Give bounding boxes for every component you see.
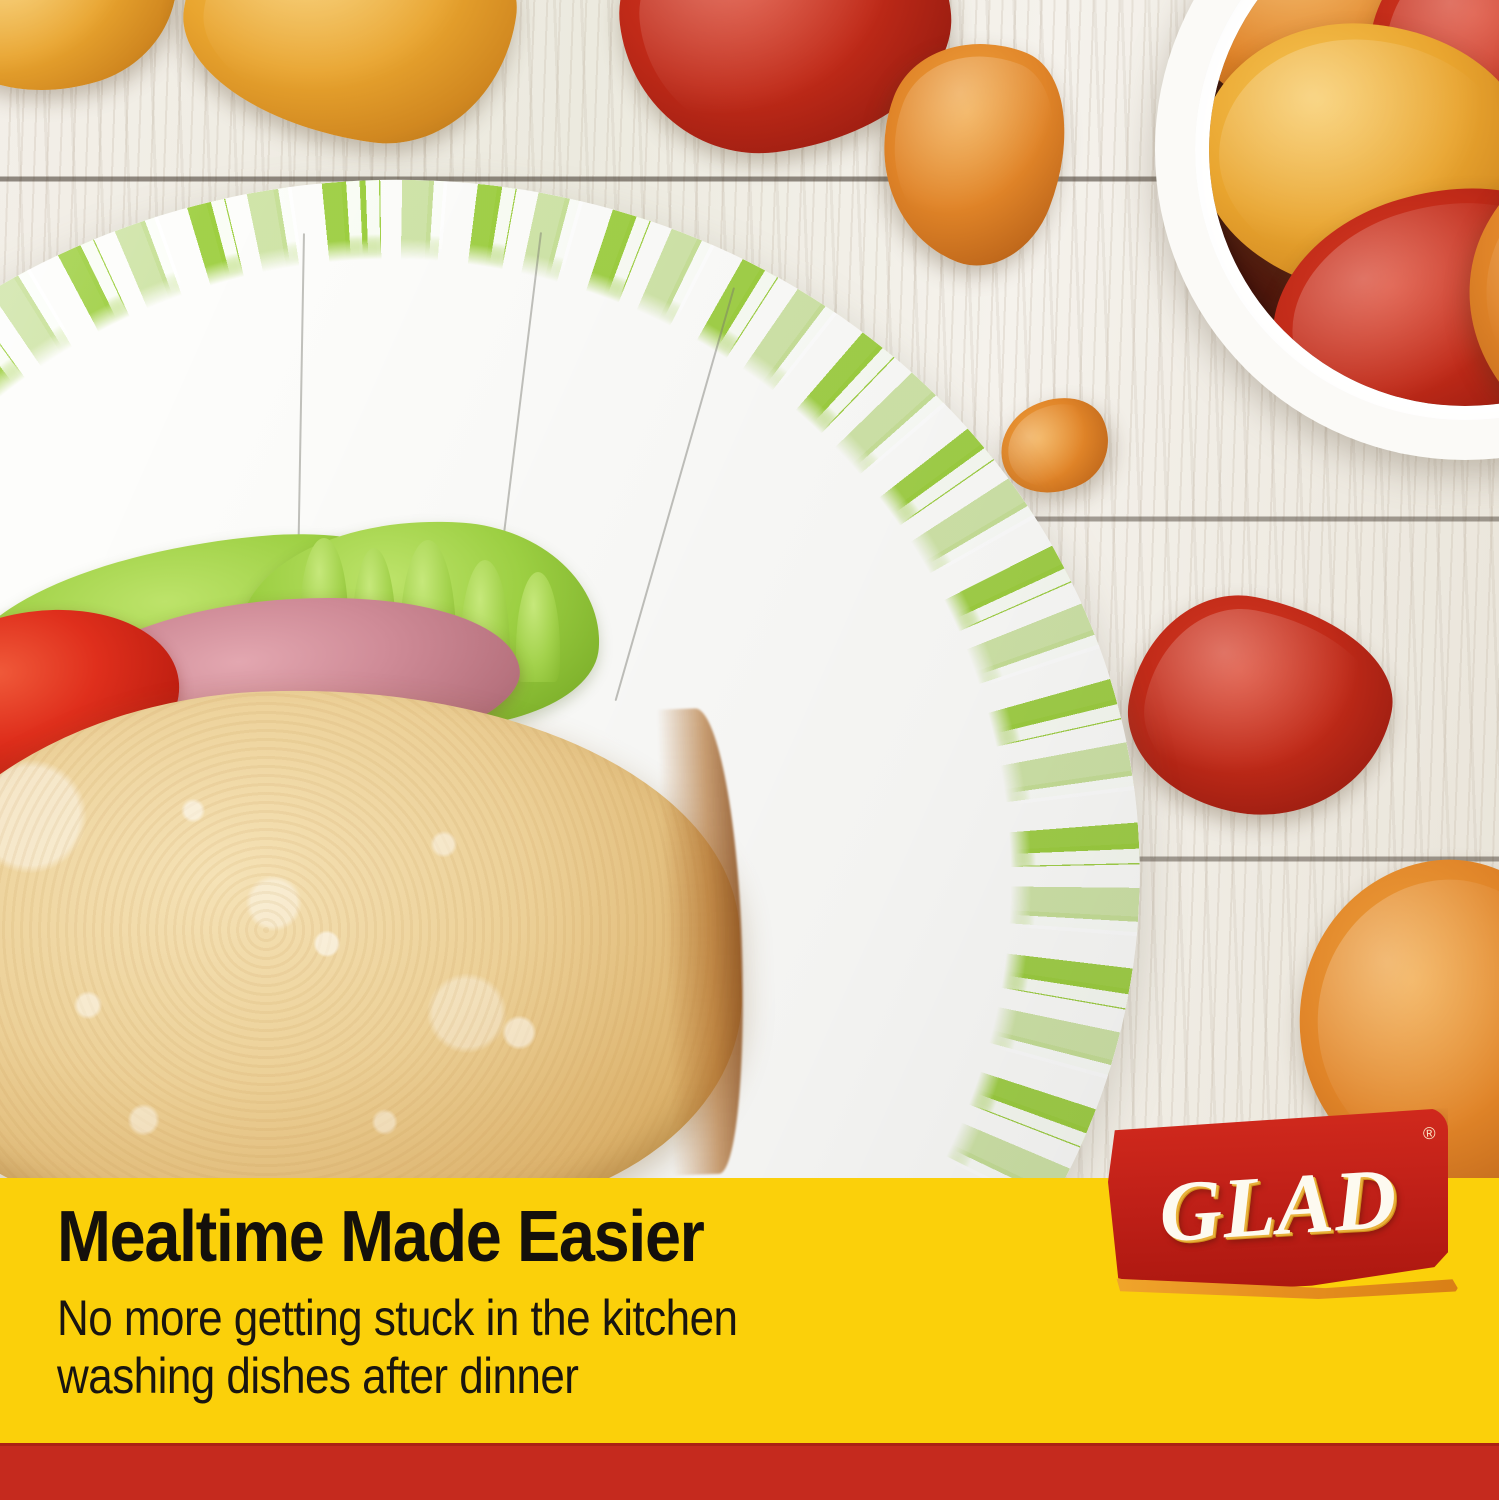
product-lifestyle-photo [0, 0, 1499, 1186]
logo-wordmark: GLAD [1103, 1102, 1454, 1307]
sweet-potato-chip [169, 0, 531, 160]
bowl-rim [1195, 0, 1499, 420]
sweet-potato-chip [0, 0, 201, 121]
footer-accent-bar [0, 1443, 1499, 1500]
banner-subline-2: washing dishes after dinner [57, 1348, 1326, 1404]
glad-paper-plates-advertisement: Mealtime Made Easier No more getting stu… [0, 0, 1499, 1500]
beet-chip [1112, 577, 1408, 838]
registered-trademark-icon: ® [1423, 1124, 1437, 1145]
chips-bowl [1155, 0, 1499, 460]
glad-brand-logo: GLAD ® [1108, 1108, 1448, 1293]
